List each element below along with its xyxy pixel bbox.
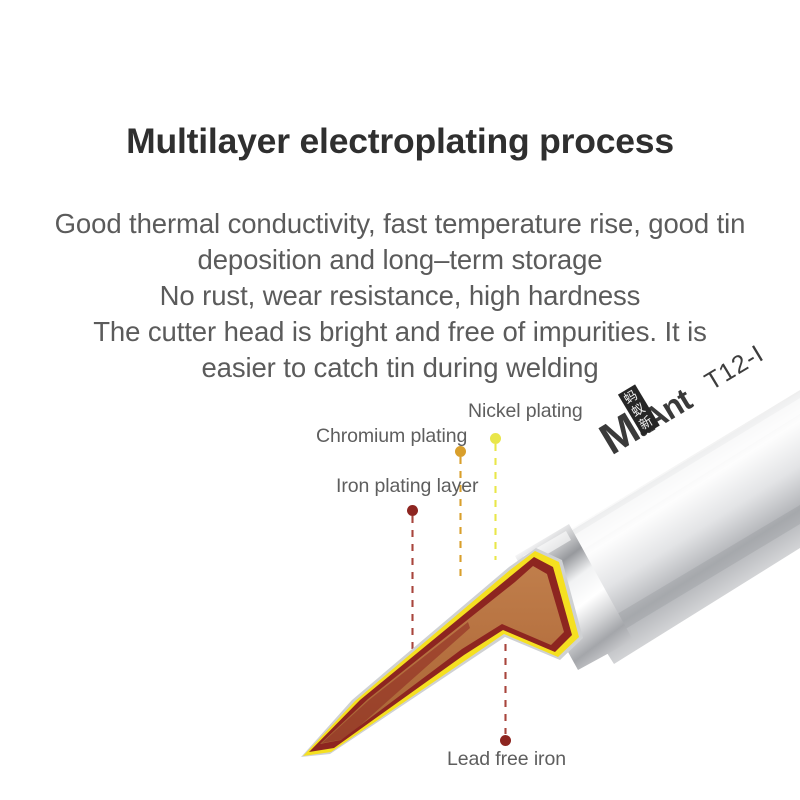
tip-head [301,548,583,757]
iron-dot [407,505,418,516]
callout-label-chromium-plating: Chromium plating [316,425,467,448]
callout-label-iron-plating-layer: Iron plating layer [336,475,478,498]
nickel-dot [490,433,501,444]
callout-label-lead-free-iron: Lead free iron [447,748,566,771]
lead-free-dot [500,735,511,746]
infographic-canvas: Multilayer electroplating process Good t… [0,0,800,800]
chromium-dot [455,446,466,457]
callout-label-nickel-plating: Nickel plating [468,400,583,423]
core-crease [322,622,470,743]
